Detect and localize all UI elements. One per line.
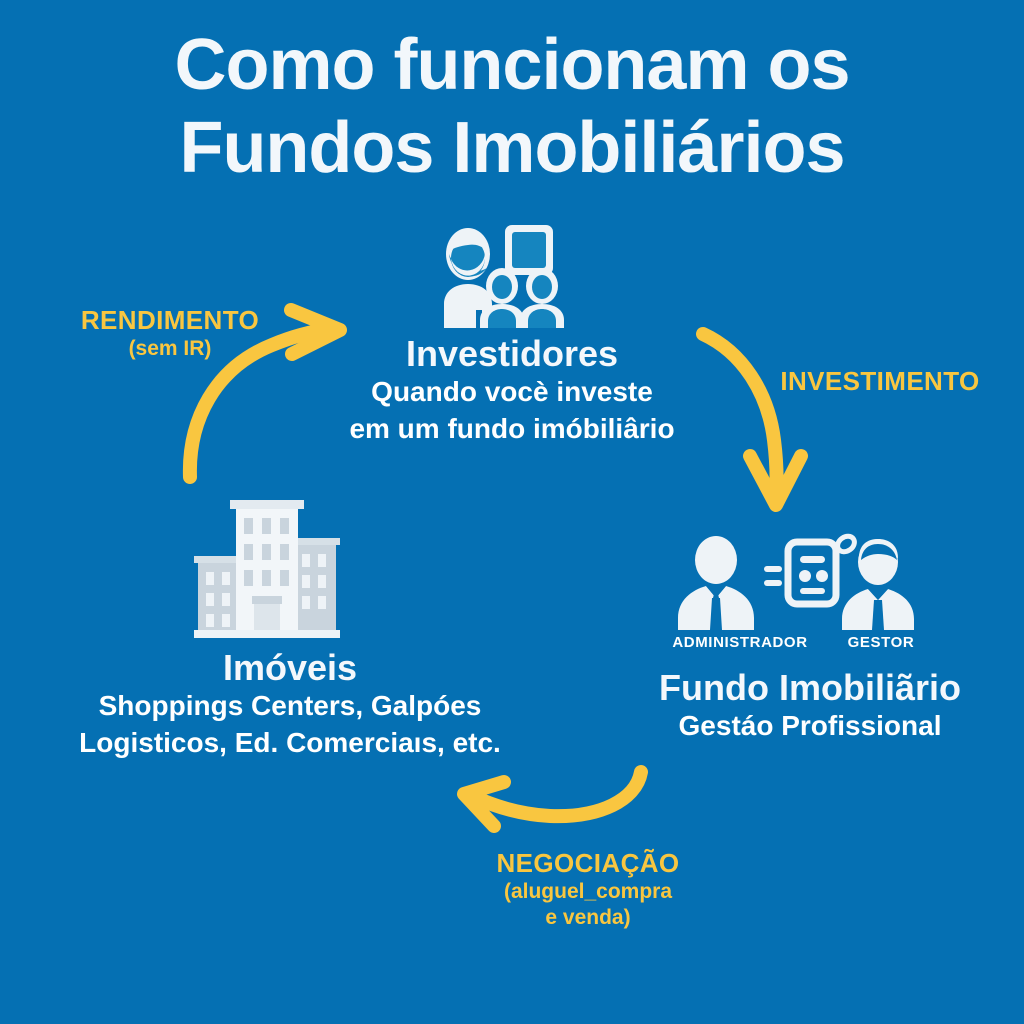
rendimento-sublabel: (sem IR) [40,336,300,362]
investors-presentation-icon [434,224,566,328]
report-document-icon [788,542,836,604]
infographic-canvas: Como funcionam os Fundos Imobiliários RE… [0,0,1024,1024]
title-line-2: Fundos Imobiliários [0,107,1024,190]
flow-label-rendimento: RENDIMENTO (sem IR) [40,305,300,362]
gestor-figure [842,539,914,630]
rendimento-label: RENDIMENTO [40,305,300,336]
arrow-negociacao [464,772,641,826]
node-investidores: Investidores Quando vocè investe em um f… [312,334,712,448]
negociacao-sublabel-2: e venda) [438,905,738,931]
imoveis-heading: Imóveis [40,648,540,688]
fundo-heading: Fundo Imobiliãrio [600,668,1020,708]
imoveis-sub-1: Shoppings Centers, Galpóes [40,688,540,725]
flow-label-investimento: INVESTIMENTO [770,366,990,397]
negociacao-sublabel-1: (aluguel_compra [438,879,738,905]
page-title: Como funcionam os Fundos Imobiliários [0,24,1024,190]
administrador-figure [678,536,754,630]
imoveis-sub-2: Logisticos, Ed. Comerciaıs, etc. [40,725,540,762]
role-label-gestor: GESTOR [806,634,956,651]
node-imoveis: Imóveis Shoppings Centers, Galpóes Logis… [40,648,540,762]
investidores-sub-1: Quando vocè investe [312,374,712,411]
fund-management-icon [676,536,916,630]
node-fundo-imobiliario: Fundo Imobiliãrio Gestáo Profissional [600,668,1020,745]
investimento-label: INVESTIMENTO [770,366,990,397]
title-line-1: Como funcionam os [0,24,1024,107]
flow-label-negociacao: NEGOCIAÇÃO (aluguel_compra e venda) [438,848,738,932]
investidores-sub-2: em um fundo imóbiliârio [312,411,712,448]
fundo-sub-1: Gestáo Profissional [600,708,1020,745]
buildings-icon [192,490,342,640]
negociacao-label: NEGOCIAÇÃO [438,848,738,879]
arrow-investimento [703,334,801,505]
equals-icon [764,566,782,586]
investidores-heading: Investidores [312,334,712,374]
